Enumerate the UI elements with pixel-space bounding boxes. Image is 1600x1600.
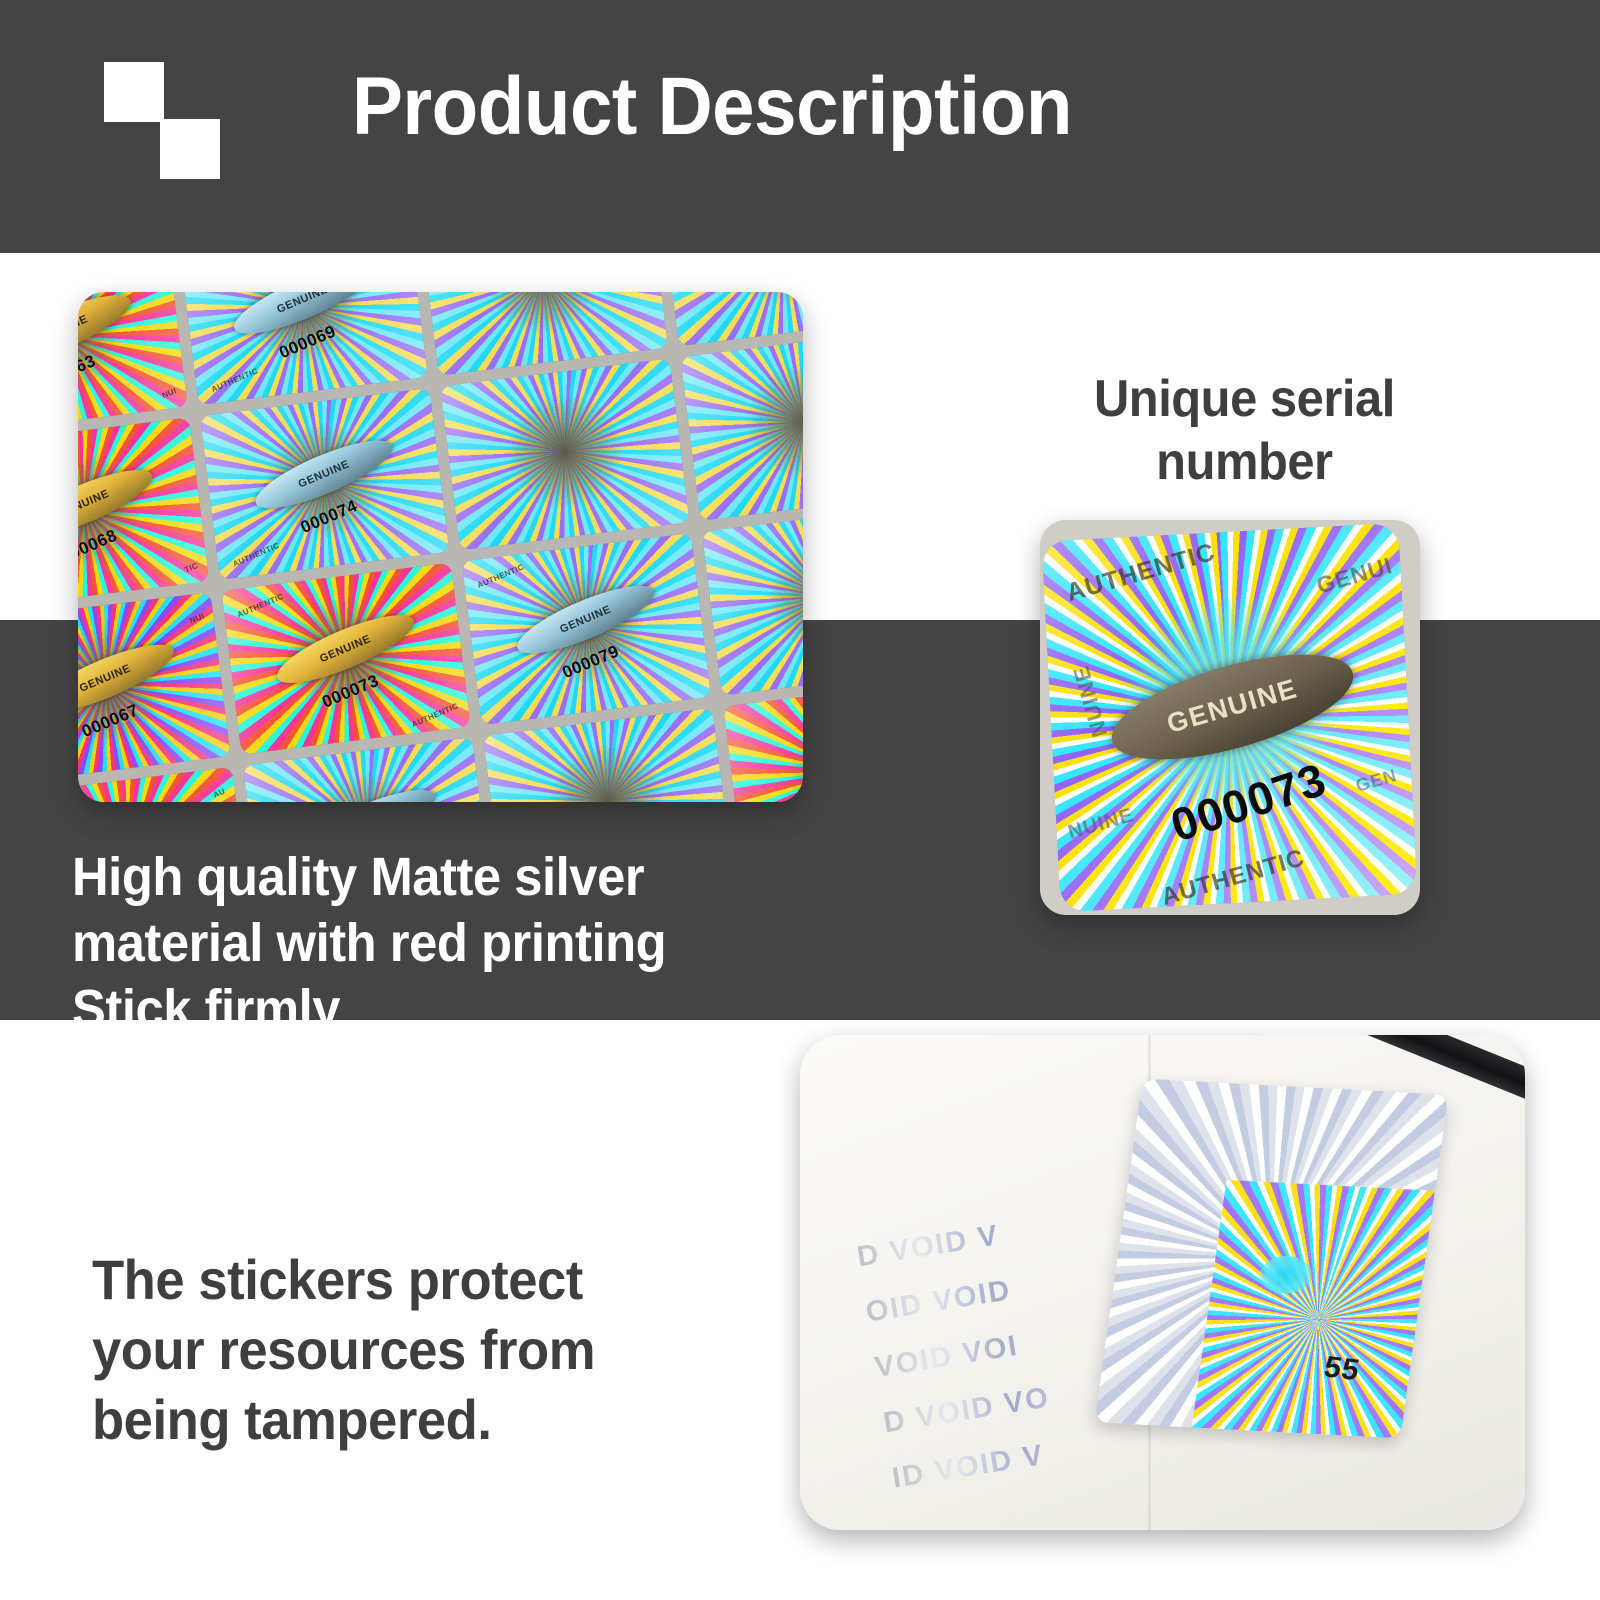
sticker-sheet-photo: TIC NUI GENUINE 000063 AUTHENTIC GENUINE… [78, 292, 803, 802]
logo-square-bottom-right [160, 119, 220, 179]
hologram-sheen [701, 504, 803, 696]
genuine-label: GENUINE [1164, 673, 1302, 740]
tamper-line: being tampered. [92, 1385, 788, 1455]
hologram-sticker: NUI TIC GENUINE 000068 [78, 418, 209, 610]
page-title: Product Description [352, 62, 1072, 152]
heading-line: Unique serial [1000, 368, 1489, 431]
hologram-sticker: AU GENUINE 000072 [78, 768, 252, 802]
product-description-infographic: Product Description TIC NUI GENUINE 0000… [0, 0, 1600, 1600]
genuine-label: GENUINE [296, 459, 351, 491]
two-square-logo-icon [104, 62, 222, 170]
hologram-sticker: AUTHENTIC GENUINE 000079 [461, 534, 710, 726]
heading-line: number [1000, 431, 1489, 494]
sticker-grid: TIC NUI GENUINE 000063 AUTHENTIC GENUINE… [78, 292, 803, 802]
genuine-label: GENUINE [317, 633, 372, 665]
hologram-sticker: TIC NUI GENUINE 000063 [78, 292, 187, 435]
hologram-sticker [440, 359, 689, 551]
logo-square-top-left [104, 62, 164, 122]
hologram-sheen [723, 679, 803, 802]
hologram-sticker [680, 330, 803, 522]
genuine-label: GENUINE [274, 292, 329, 316]
hologram-sticker [701, 504, 803, 696]
hologram-sheen [440, 359, 689, 551]
serial-closeup-photo: AUTHENTIC GENUI NUINE AUTHENTIC NUINE GE… [1040, 520, 1420, 915]
hologram-sticker [483, 709, 732, 802]
peeled-sticker-label: 55 [1095, 1078, 1448, 1437]
hologram-sheen [483, 709, 732, 802]
tamper-line: The stickers protect [92, 1245, 788, 1315]
genuine-label: GENUINE [557, 604, 612, 636]
material-line: Stick firmly [72, 977, 956, 1043]
hologram-sheen [680, 330, 803, 522]
unique-serial-heading: Unique serial number [1000, 368, 1489, 495]
hologram-sheen [658, 292, 803, 347]
material-description: High quality Matte silver material with … [72, 845, 956, 1043]
hologram-sticker: AUTHENTIC AUTHENTIC GENUINE 000073 [221, 563, 470, 755]
closeup-hologram-sticker: AUTHENTIC GENUI NUINE AUTHENTIC NUINE GE… [1042, 523, 1418, 912]
hologram-sticker [723, 679, 803, 802]
hologram-sticker: AUTHENTIC GENUINE 000069 [178, 292, 427, 406]
hologram-sticker: NUI GENUINE 000067 [78, 593, 230, 785]
hologram-sticker [658, 292, 803, 347]
material-line: High quality Matte silver [72, 845, 956, 911]
material-line: material with red printing [72, 911, 956, 977]
tamper-void-photo: D VOID V OID VOID VOID VOI D VOID VO ID … [800, 1035, 1525, 1530]
tamper-description: The stickers protect your resources from… [92, 1245, 788, 1455]
peeled-serial-fragment: 55 [1321, 1350, 1363, 1388]
hologram-sheen [78, 768, 252, 802]
tamper-line: your resources from [92, 1315, 788, 1385]
hologram-sticker: AUTHENTIC GENUINE 000074 [199, 388, 448, 580]
genuine-label: GENUINE [78, 663, 132, 695]
